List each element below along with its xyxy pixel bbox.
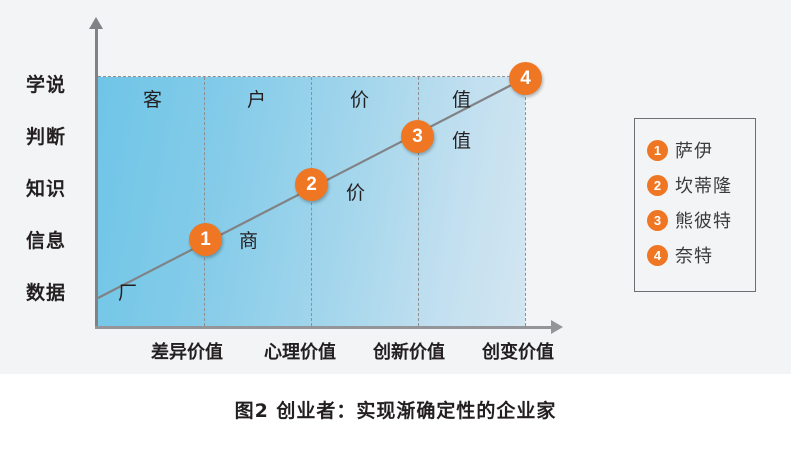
plot-annotation-8: 值 xyxy=(452,126,471,153)
plot-annotation-6: 商 xyxy=(239,226,258,253)
legend-item-4[interactable]: 4奈特 xyxy=(647,242,713,268)
data-marker-3[interactable]: 3 xyxy=(401,120,434,153)
x-axis-label-1: 差异价值 xyxy=(151,338,223,364)
grid-line-v-3 xyxy=(418,77,419,326)
legend-marker-1: 1 xyxy=(647,140,668,161)
plot-annotation-4: 值 xyxy=(452,85,471,112)
y-axis-arrow-icon xyxy=(89,17,103,29)
plot-annotation-3: 价 xyxy=(350,85,369,112)
y-axis-label-3: 知识 xyxy=(26,174,92,201)
legend-label-2: 坎蒂隆 xyxy=(675,172,732,198)
grid-line-v-4 xyxy=(525,77,526,326)
x-axis-label-4: 创变价值 xyxy=(482,338,554,364)
x-axis-arrow-icon xyxy=(551,320,563,334)
x-axis-label-3: 创新价值 xyxy=(373,338,445,364)
legend-item-1[interactable]: 1萨伊 xyxy=(647,137,713,163)
plot-annotation-7: 价 xyxy=(346,178,365,205)
legend-label-1: 萨伊 xyxy=(675,137,713,163)
y-axis-label-5: 数据 xyxy=(26,278,92,305)
legend-marker-3: 3 xyxy=(647,210,668,231)
y-axis-label-1: 学说 xyxy=(26,70,92,97)
legend-label-3: 熊彼特 xyxy=(675,207,732,233)
plot-annotation-1: 客 xyxy=(143,85,162,112)
y-axis-label-4: 信息 xyxy=(26,226,92,253)
legend-item-3[interactable]: 3熊彼特 xyxy=(647,207,732,233)
x-axis-label-2: 心理价值 xyxy=(264,338,336,364)
grid-line-v-1 xyxy=(204,77,205,326)
data-marker-2[interactable]: 2 xyxy=(295,168,328,201)
legend-item-2[interactable]: 2坎蒂隆 xyxy=(647,172,732,198)
plot-annotation-5: 厂 xyxy=(118,278,137,305)
plot-annotation-2: 户 xyxy=(247,85,266,112)
grid-line-v-2 xyxy=(311,77,312,326)
data-marker-4[interactable]: 4 xyxy=(509,62,542,95)
data-marker-1[interactable]: 1 xyxy=(189,223,222,256)
figure-panel: 学说判断知识信息数据 差异价值心理价值创新价值创变价值 客户价值厂商价值 123… xyxy=(0,0,791,374)
figure-page: 学说判断知识信息数据 差异价值心理价值创新价值创变价值 客户价值厂商价值 123… xyxy=(0,0,791,451)
legend: 1萨伊2坎蒂隆3熊彼特4奈特 xyxy=(634,118,756,292)
legend-marker-4: 4 xyxy=(647,245,668,266)
y-axis-label-2: 判断 xyxy=(26,122,92,149)
x-axis-line xyxy=(95,326,553,329)
figure-caption: 图2 创业者：实现渐确定性的企业家 xyxy=(0,396,791,423)
legend-marker-2: 2 xyxy=(647,175,668,196)
legend-label-4: 奈特 xyxy=(675,242,713,268)
